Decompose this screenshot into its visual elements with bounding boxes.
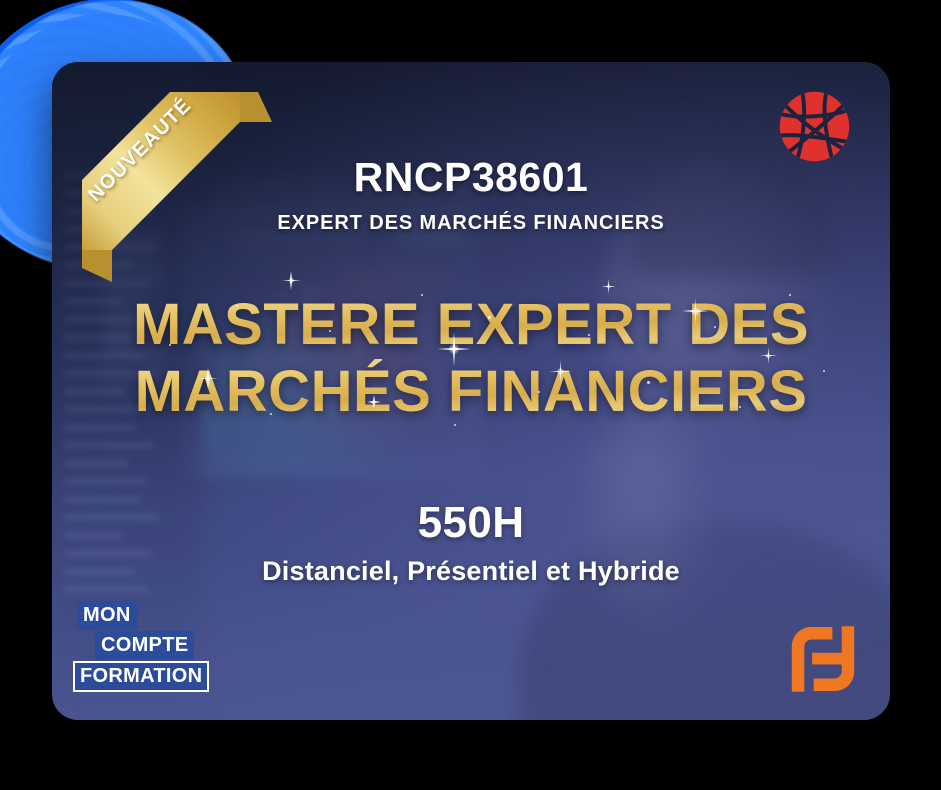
course-modalities: Distanciel, Présentiel et Hybride <box>262 556 680 587</box>
program-title-line-1: MASTERE EXPERT DES <box>52 291 890 358</box>
cpf-logo-line-3: FORMATION <box>73 661 209 692</box>
certification-name: EXPERT DES MARCHÉS FINANCIERS <box>277 212 664 235</box>
fj-monogram-icon[interactable] <box>784 620 862 698</box>
mon-compte-formation-logo[interactable]: MON COMPTE FORMATION <box>73 601 223 692</box>
program-title-line-2: MARCHÉS FINANCIERS <box>52 358 890 425</box>
cpf-logo-line-2: COMPTE <box>95 631 194 660</box>
course-duration: 550H <box>418 498 525 548</box>
course-card[interactable]: NOUVEAUTÉ RNCP38601 <box>52 62 890 720</box>
cpf-logo-line-1: MON <box>77 601 137 630</box>
certification-code: RNCP38601 <box>354 154 589 201</box>
screenshot-canvas: NOUVEAUTÉ RNCP38601 <box>0 0 941 790</box>
program-title-block: MASTERE EXPERT DES MARCHÉS FINANCIERS <box>52 291 890 426</box>
